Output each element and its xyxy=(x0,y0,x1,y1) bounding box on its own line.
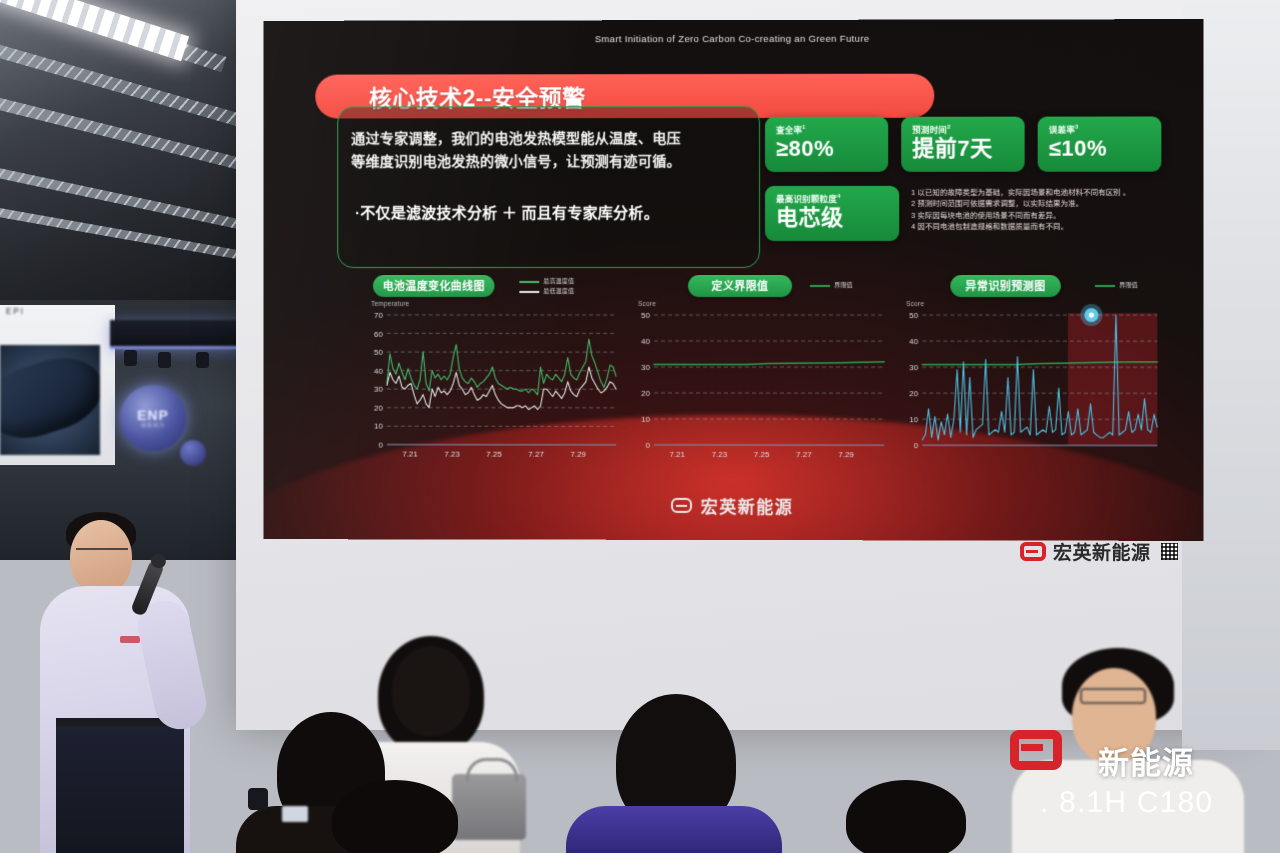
metric-label: 最高识别颗粒度4 xyxy=(776,193,889,205)
svg-text:30: 30 xyxy=(374,385,383,394)
booth-signage: 新能源 . 8.1H C180 xyxy=(1010,700,1280,853)
svg-text:7.23: 7.23 xyxy=(712,450,728,459)
y-axis-label: Score xyxy=(638,301,656,308)
footnotes: 1 以已知的故障类型为基础，实际因场景和电池材料不同有区别 。 2 预测时间范围… xyxy=(911,187,1167,232)
metric-value: ≤10% xyxy=(1049,137,1152,160)
metric-value: ≥80% xyxy=(776,137,878,160)
chart-temperature-curve: 电池温度变化曲线图 最高温度值 最低温度值 Temperature 010203… xyxy=(363,275,620,485)
metric-card-granularity: 最高识别颗粒度4 电芯级 xyxy=(765,186,899,241)
body-paragraph: 通过专家调整，我们的电池发热模型能从温度、电压 等维度识别电池发热的微小信号，让… xyxy=(351,128,750,174)
hongying-logo-icon xyxy=(1020,542,1046,561)
left-booth-panel-sub: EPI xyxy=(6,308,25,316)
projected-slide: Smart Initiation of Zero Carbon Co-creat… xyxy=(264,19,1204,541)
svg-text:7.25: 7.25 xyxy=(754,450,770,459)
chart-title: 定义界限值 xyxy=(712,278,769,294)
left-booth-display-screen xyxy=(0,345,100,455)
legend-item: 界限值 xyxy=(810,281,853,291)
legend-item: 界限值 xyxy=(1095,281,1138,291)
legend-swatch xyxy=(519,291,539,293)
svg-text:30: 30 xyxy=(641,363,650,372)
svg-text:7.21: 7.21 xyxy=(669,450,685,459)
footnote-1: 1 以已知的故障类型为基础，实际因场景和电池材料不同有区别 。 xyxy=(911,187,1167,198)
svg-text:20: 20 xyxy=(909,389,918,398)
handbag xyxy=(452,774,526,840)
metric-card-recall: 查全率1 ≥80% xyxy=(765,117,888,172)
metric-value: 提前7天 xyxy=(912,137,1014,160)
chart-legend: 界限值 xyxy=(1095,281,1138,291)
booth-sign-text: 新能源 xyxy=(1098,738,1194,783)
metric-card-error-rate: 误差率3 ≤10% xyxy=(1038,116,1162,171)
svg-text:7.29: 7.29 xyxy=(570,450,586,459)
hongying-logo-icon xyxy=(671,498,692,513)
svg-text:70: 70 xyxy=(374,311,383,320)
booth-sign-code: . 8.1H C180 xyxy=(1040,786,1213,820)
enp-logo-text: ENP xyxy=(137,408,169,422)
chart-title-chip: 电池温度变化曲线图 xyxy=(373,275,494,297)
metric-card-lead-time: 预测时间2 提前7天 xyxy=(901,117,1024,172)
chart-legend: 最高温度值 最低温度值 xyxy=(519,277,574,297)
legend-label: 界限值 xyxy=(1119,281,1138,291)
chart-threshold-definition: 定义界限值 界限值 Score 010203040507.217.237.257… xyxy=(630,275,888,485)
body-bullet: ·不仅是滤波技术分析 ＋ 而且有专家库分析。 xyxy=(355,202,754,223)
slide-footer-logo-text: 宏英新能源 xyxy=(701,493,794,518)
y-axis-label: Score xyxy=(906,301,924,308)
legend-label: 界限值 xyxy=(834,281,853,291)
footnote-2: 2 预测时间范围可依据需求调整，以实际结果为准。 xyxy=(911,198,1167,209)
svg-text:0: 0 xyxy=(379,441,384,450)
svg-text:30: 30 xyxy=(909,363,918,372)
chart-plot-area: 010203040507.217.237.257.277.29 xyxy=(630,311,888,463)
legend-label: 最高温度值 xyxy=(543,277,574,287)
y-axis-label: Temperature xyxy=(371,301,410,308)
shirt-logo xyxy=(120,636,140,643)
body-line-2: 等维度识别电池发热的微小信号，让预测有迹可循。 xyxy=(351,151,750,174)
chart-title: 异常识别预测图 xyxy=(965,278,1045,294)
legend-swatch xyxy=(810,285,830,287)
left-booth-panel-text: EPI xyxy=(6,308,25,316)
svg-text:40: 40 xyxy=(641,337,650,346)
chart-legend: 界限值 xyxy=(810,281,853,291)
svg-text:7.29: 7.29 xyxy=(838,450,854,459)
footnote-4: 4 因不同电池包制造规格和数据质量而有不同。 xyxy=(911,221,1167,232)
body-line-1: 通过专家调整，我们的电池发热模型能从温度、电压 xyxy=(351,128,750,151)
audience-hair xyxy=(332,780,458,853)
svg-text:60: 60 xyxy=(374,329,383,338)
chart-title: 电池温度变化曲线图 xyxy=(383,278,485,294)
exhibition-photo: EPI ENP 绿色动力 Smart Initiation of Zero Ca… xyxy=(0,0,1280,853)
svg-text:50: 50 xyxy=(641,311,650,320)
visitor-badge xyxy=(282,806,308,822)
enp-booth-logo: ENP 绿色动力 xyxy=(120,385,186,451)
svg-text:7.25: 7.25 xyxy=(486,450,502,459)
chart-title-chip: 定义界限值 xyxy=(688,275,792,297)
spotlight xyxy=(196,352,209,368)
svg-text:10: 10 xyxy=(909,415,918,424)
svg-text:7.27: 7.27 xyxy=(796,450,812,459)
chart-plot-area: 0102030405060707.217.237.257.277.29 xyxy=(363,311,620,463)
svg-text:7.23: 7.23 xyxy=(444,450,460,459)
booth-decor-circle xyxy=(180,440,206,466)
booth-canopy xyxy=(110,320,240,349)
chart-anomaly-prediction: 异常识别预测图 界限值 Score 01020304050 xyxy=(898,275,1161,486)
audience-top xyxy=(566,806,782,853)
svg-text:40: 40 xyxy=(374,366,383,375)
wall-brand-logo: 宏英新能源 xyxy=(1020,538,1178,565)
wristwatch xyxy=(248,788,268,810)
hongying-logo-icon xyxy=(1010,730,1062,770)
metric-label: 预测时间2 xyxy=(912,124,1014,136)
svg-text:20: 20 xyxy=(641,389,650,398)
metric-label: 查全率1 xyxy=(776,124,878,136)
spotlight xyxy=(158,352,171,368)
legend-label: 最低温度值 xyxy=(543,287,574,297)
slide-subtitle: Smart Initiation of Zero Carbon Co-creat… xyxy=(264,33,1204,46)
svg-text:0: 0 xyxy=(646,441,651,450)
legend-swatch xyxy=(519,281,539,283)
presenter-trousers xyxy=(56,726,184,853)
legend-swatch xyxy=(1095,285,1115,287)
product-image xyxy=(0,346,100,450)
svg-text:20: 20 xyxy=(374,404,383,413)
chart-title-chip: 异常识别预测图 xyxy=(950,275,1060,297)
svg-text:40: 40 xyxy=(909,337,918,346)
legend-item: 最低温度值 xyxy=(519,287,574,297)
spotlight xyxy=(124,350,137,366)
svg-text:10: 10 xyxy=(374,422,383,431)
svg-text:7.27: 7.27 xyxy=(528,450,544,459)
svg-text:50: 50 xyxy=(909,311,918,320)
qr-code-icon xyxy=(1161,543,1178,560)
slide-footer-logo: 宏英新能源 xyxy=(264,492,1204,519)
metric-value: 电芯级 xyxy=(776,206,889,229)
svg-text:10: 10 xyxy=(641,415,650,424)
svg-text:50: 50 xyxy=(374,348,383,357)
legend-item: 最高温度值 xyxy=(519,277,574,287)
wall-brand-text: 宏英新能源 xyxy=(1053,538,1151,565)
svg-text:7.21: 7.21 xyxy=(402,450,418,459)
presenter-glasses xyxy=(76,548,128,561)
metric-label: 误差率3 xyxy=(1049,124,1152,136)
enp-logo-sub: 绿色动力 xyxy=(141,422,165,429)
audience-hair xyxy=(846,780,966,853)
chart-plot-area: 01020304050 xyxy=(898,311,1161,464)
audience-head xyxy=(392,646,470,736)
footnote-3: 3 实际因每块电池的使用场景不同而有差异。 xyxy=(911,209,1167,220)
svg-text:0: 0 xyxy=(914,441,919,450)
